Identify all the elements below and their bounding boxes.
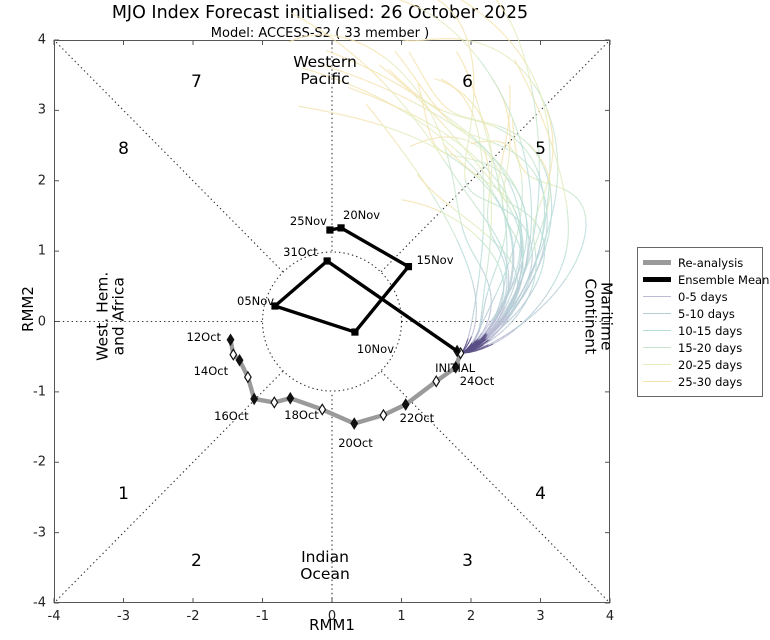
date-label-14oct: 14Oct — [194, 364, 229, 378]
legend-swatch — [643, 381, 671, 382]
mjo-phase-diagram: MJO Index Forecast initialised: 26 Octob… — [0, 0, 770, 640]
legend-label: 5-10 days — [678, 307, 735, 321]
legend-label: 20-25 days — [678, 358, 742, 372]
region-label-indian-ocean: IndianOcean — [225, 549, 425, 582]
legend-label: 0-5 days — [678, 290, 728, 304]
date-label-31oct: 31Oct — [283, 245, 318, 259]
date-label-22oct: 22Oct — [400, 411, 435, 425]
date-label-24oct: 24Oct — [460, 374, 495, 388]
date-label-18oct: 18Oct — [284, 408, 319, 422]
y-tick--3: -3 — [8, 525, 46, 540]
legend-item[interactable]: 15-20 days — [643, 339, 757, 356]
y-tick--2: -2 — [8, 455, 46, 470]
date-label-initial: INITIAL — [435, 361, 475, 375]
x-tick--4: -4 — [48, 609, 61, 624]
y-tick-2: 2 — [8, 173, 46, 188]
legend-swatch — [643, 364, 671, 365]
phase-label-5: 5 — [535, 139, 546, 159]
x-tick--1: -1 — [256, 609, 269, 624]
legend-swatch — [643, 330, 671, 331]
legend-label: 25-30 days — [678, 375, 742, 389]
legend-item[interactable]: 5-10 days — [643, 305, 757, 322]
legend-swatch — [643, 277, 671, 282]
date-label-10nov: 10Nov — [357, 342, 394, 356]
y-tick--1: -1 — [8, 384, 46, 399]
x-tick--3: -3 — [117, 609, 130, 624]
legend-swatch — [643, 313, 671, 314]
phase-label-8: 8 — [118, 139, 129, 159]
region-label-maritime-continent: MaritimeContinent — [582, 231, 615, 401]
y-tick--4: -4 — [8, 596, 46, 611]
phase-label-1: 1 — [118, 484, 129, 504]
page-subtitle: Model: ACCESS-S2 ( 33 member ) — [0, 26, 640, 41]
legend-item[interactable]: 10-15 days — [643, 322, 757, 339]
legend-item[interactable]: 20-25 days — [643, 356, 757, 373]
legend-label: Re-analysis — [678, 256, 743, 270]
x-tick--2: -2 — [187, 609, 200, 624]
legend-label: 10-15 days — [678, 324, 742, 338]
x-tick-2: 2 — [467, 609, 475, 624]
date-label-15nov: 15Nov — [416, 253, 453, 267]
legend-item[interactable]: Ensemble Mean — [643, 271, 757, 288]
legend-item[interactable]: Re-analysis — [643, 254, 757, 271]
legend-swatch — [643, 347, 671, 348]
legend-label: Ensemble Mean — [678, 273, 769, 287]
phase-label-3: 3 — [462, 551, 473, 571]
date-label-16oct: 16Oct — [214, 409, 249, 423]
phase-label-6: 6 — [462, 72, 473, 92]
y-tick-0: 0 — [8, 314, 46, 329]
x-tick-0: 0 — [328, 609, 336, 624]
phase-label-2: 2 — [191, 551, 202, 571]
y-tick-3: 3 — [8, 103, 46, 118]
y-tick-1: 1 — [8, 244, 46, 259]
legend-swatch — [643, 260, 671, 265]
legend-item[interactable]: 25-30 days — [643, 373, 757, 390]
y-tick-4: 4 — [8, 33, 46, 48]
phase-label-7: 7 — [191, 72, 202, 92]
date-label-12oct: 12Oct — [187, 330, 222, 344]
plot-canvas — [54, 40, 610, 603]
date-label-20nov: 20Nov — [343, 208, 380, 222]
plot-area — [54, 40, 610, 603]
date-label-05nov: 05Nov — [237, 294, 274, 308]
legend-item[interactable]: 0-5 days — [643, 288, 757, 305]
page-title: MJO Index Forecast initialised: 26 Octob… — [0, 3, 640, 23]
date-label-20oct: 20Oct — [338, 436, 373, 450]
legend-label: 15-20 days — [678, 341, 742, 355]
date-label-25nov: 25Nov — [290, 214, 327, 228]
legend-swatch — [643, 296, 671, 297]
region-label-west-hem-africa: West. Hem.and Africa — [95, 231, 128, 401]
y-axis-label: RMM2 — [19, 249, 37, 369]
x-tick-4: 4 — [606, 609, 614, 624]
x-tick-1: 1 — [397, 609, 405, 624]
legend: Re-analysisEnsemble Mean0-5 days5-10 day… — [637, 247, 763, 397]
region-label-western-pacific: WesternPacific — [225, 54, 425, 87]
x-tick-3: 3 — [536, 609, 544, 624]
phase-label-4: 4 — [535, 484, 546, 504]
